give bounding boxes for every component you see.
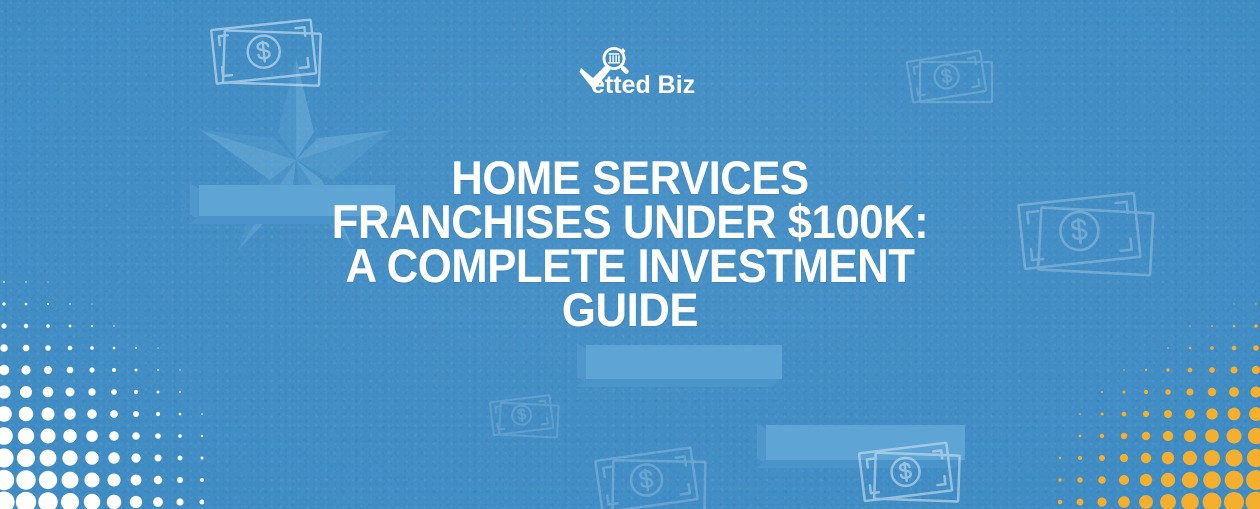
logo-wordmark: etted Biz <box>591 71 695 98</box>
title-line-2: FRANCHISES UNDER $100K: <box>44 200 1216 244</box>
page-title: HOME SERVICES FRANCHISES UNDER $100K: A … <box>44 156 1216 332</box>
promo-banner: etted Biz HOME SERVICES FRANCHISES UNDER… <box>0 0 1260 509</box>
title-line-1: HOME SERVICES <box>44 156 1216 200</box>
banknote-icon-middle <box>486 388 568 449</box>
banknote-icon-top-left <box>204 8 336 101</box>
vetted-biz-logo[interactable]: etted Biz <box>579 46 705 98</box>
highlight-bar-center <box>586 345 782 379</box>
banknote-icon-over-bar <box>854 432 972 509</box>
title-line-4: GUIDE <box>44 288 1216 332</box>
title-line-3: A COMPLETE INVESTMENT <box>44 244 1216 288</box>
